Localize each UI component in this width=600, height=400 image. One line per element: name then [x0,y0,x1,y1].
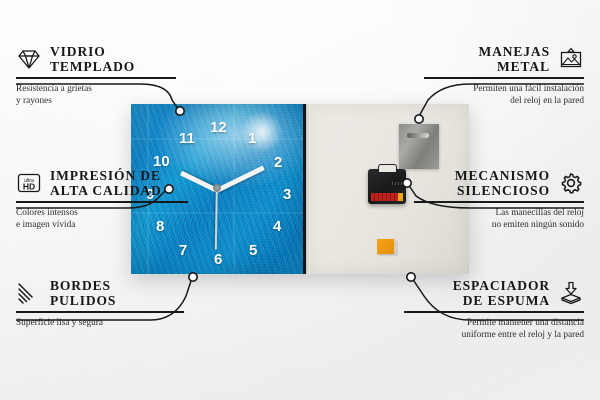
clock-numeral-4: 4 [273,219,281,234]
mechanism-hook [378,164,397,172]
clock-numeral-1: 1 [248,131,256,146]
callout-subtitle-line1: Colores intensos [16,207,188,220]
callout-espaciador-espuma[interactable]: ESPACIADOR DE ESPUMA Permite mantener un… [404,278,584,342]
callout-head: ultra HD IMPRESIÓN DE ALTA CALIDAD [16,168,188,198]
callout-manejas-metal[interactable]: MANEJAS METAL Permiten una fácil instala… [424,44,584,108]
clock-numeral-10: 10 [153,154,170,169]
callout-subtitle-line2: e imagen vívida [16,219,188,232]
callout-impresion-alta-calidad[interactable]: ultra HD IMPRESIÓN DE ALTA CALIDAD Color… [16,168,188,232]
callout-title: MECANISMO SILENCIOSO [455,168,550,198]
callout-divider [16,201,188,203]
clock-center-pin [213,184,221,192]
callout-subtitle-line1: Superficie lisa y segura [16,317,184,330]
callout-subtitle-line2: y rayones [16,95,176,108]
polished-edges-icon [16,280,42,306]
picture-hanger-icon [558,46,584,72]
callout-title: BORDES PULIDOS [50,278,116,308]
clock-highlight-flare [239,112,285,152]
hanger-slot [407,133,429,138]
clock-numeral-12: 12 [210,120,227,135]
gear-icon [558,170,584,196]
callout-subtitle-line1: Permiten una fácil instalación [424,83,584,96]
anchor-dot-bordes [189,273,197,281]
callout-vidrio-templado[interactable]: VIDRIO TEMPLADO Resistencia a grietas y … [16,44,176,108]
callout-mecanismo-silencioso[interactable]: MECANISMO SILENCIOSO Las manecillas del … [414,168,584,232]
callout-head: MECANISMO SILENCIOSO [414,168,584,198]
foam-spacer [377,239,394,254]
clock-numeral-7: 7 [179,243,187,258]
callout-subtitle-line1: Permite mantener una distancia [404,317,584,330]
callout-divider [16,77,176,79]
infographic-canvas: 12 1 2 3 4 5 6 7 8 9 10 11 [0,0,600,400]
mechanism-label [392,182,402,185]
battery-terminal [398,193,403,201]
clock-numeral-11: 11 [179,131,195,146]
callout-subtitle-line2: no emiten ningún sonido [414,219,584,232]
callout-title: MANEJAS METAL [478,44,550,74]
callout-divider [414,201,584,203]
callout-head: MANEJAS METAL [424,44,584,74]
callout-title: ESPACIADOR DE ESPUMA [453,278,550,308]
callout-head: ESPACIADOR DE ESPUMA [404,278,584,308]
callout-subtitle-line2: uniforme entre el reloj y la pared [404,329,584,342]
metal-hanger-plate [399,124,439,169]
panel-edge [306,104,310,274]
callout-subtitle-line2: del reloj en la pared [424,95,584,108]
clock-numeral-2: 2 [274,155,282,170]
svg-text:HD: HD [23,182,35,192]
foam-spacer-icon [558,280,584,306]
callout-head: BORDES PULIDOS [16,278,184,308]
ultra-hd-icon: ultra HD [16,170,42,196]
clock-mechanism [368,169,406,204]
diamond-icon [16,46,42,72]
clock-numeral-5: 5 [249,243,257,258]
clock-numeral-6: 6 [214,252,222,267]
battery [371,193,400,201]
foam-spacer-side [394,241,398,256]
callout-title: IMPRESIÓN DE ALTA CALIDAD [50,168,162,198]
callout-divider [404,311,584,313]
callout-bordes-pulidos[interactable]: BORDES PULIDOS Superficie lisa y segura [16,278,184,329]
callout-divider [424,77,584,79]
clock-numeral-3: 3 [283,187,291,202]
callout-divider [16,311,184,313]
callout-subtitle-line1: Las manecillas del reloj [414,207,584,220]
callout-title: VIDRIO TEMPLADO [50,44,135,74]
callout-head: VIDRIO TEMPLADO [16,44,176,74]
callout-subtitle-line1: Resistencia a grietas [16,83,176,96]
